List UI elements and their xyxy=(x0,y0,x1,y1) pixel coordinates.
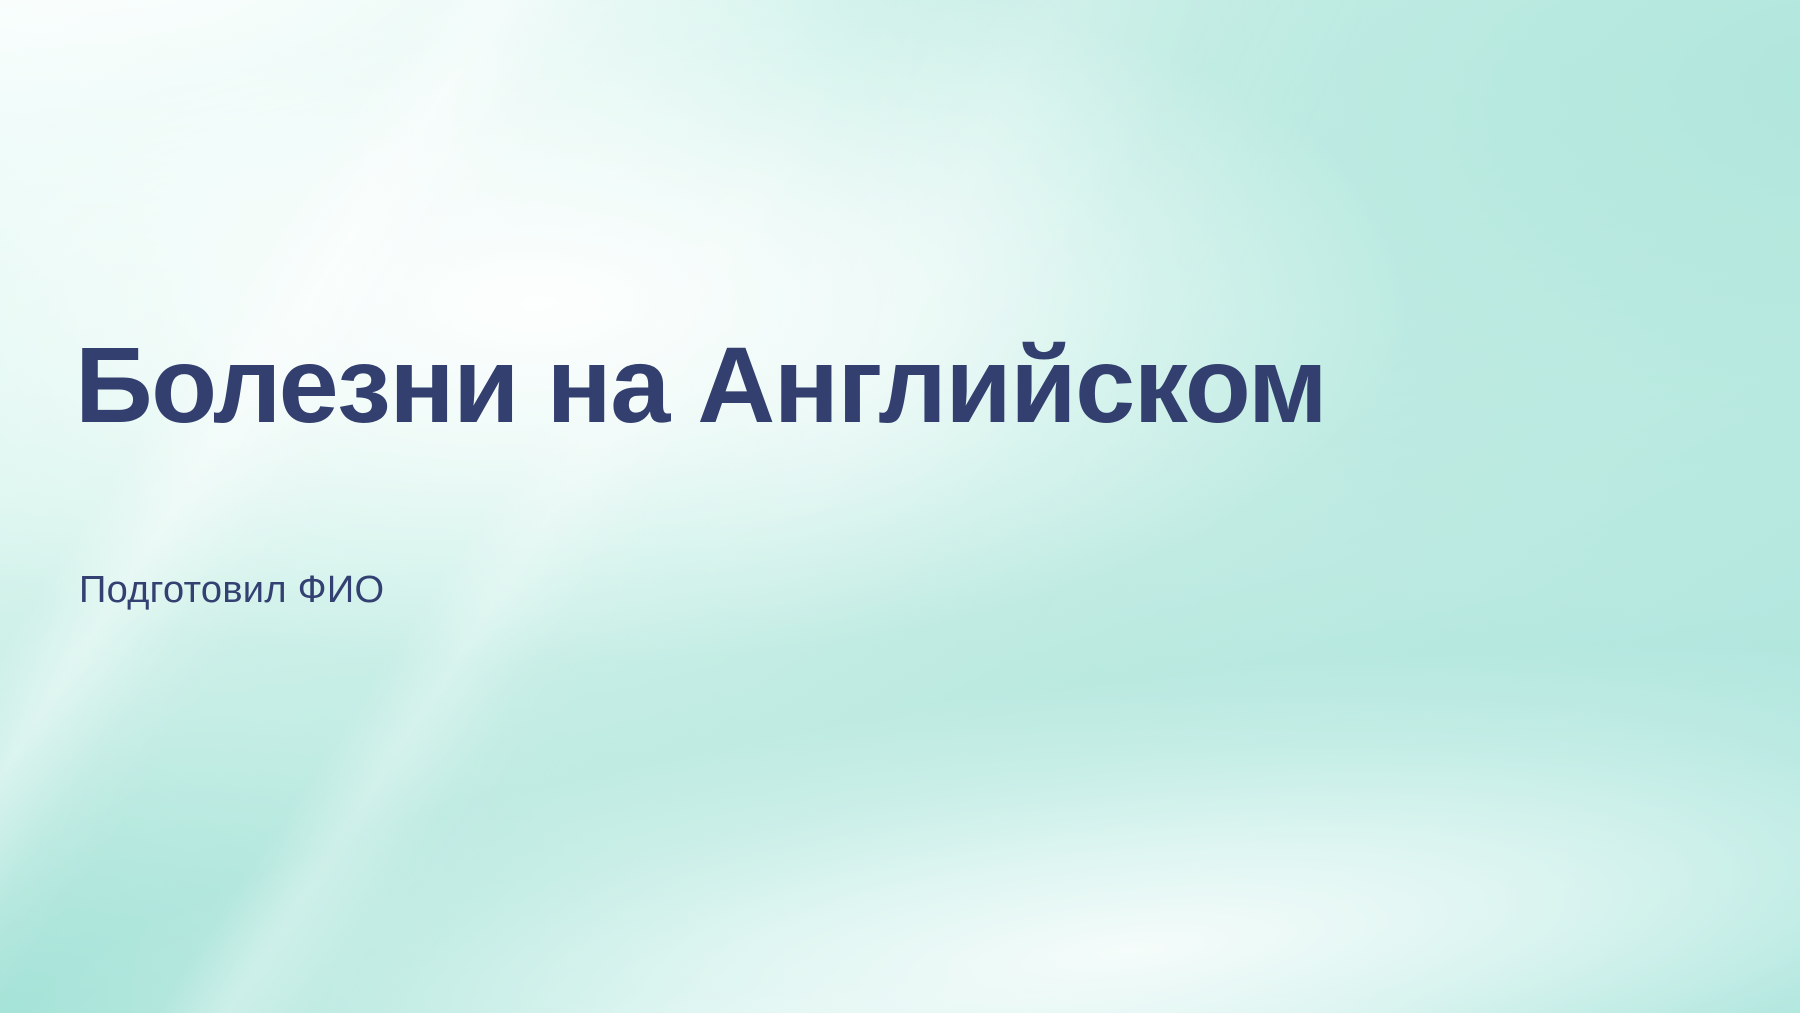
slide-title: Болезни на Английском xyxy=(75,331,1326,439)
slide-subtitle-author: Подготовил ФИО xyxy=(79,571,384,609)
title-slide: Болезни на Английском Подготовил ФИО xyxy=(0,0,1800,1013)
slide-content: Болезни на Английском Подготовил ФИО xyxy=(75,0,1575,1013)
